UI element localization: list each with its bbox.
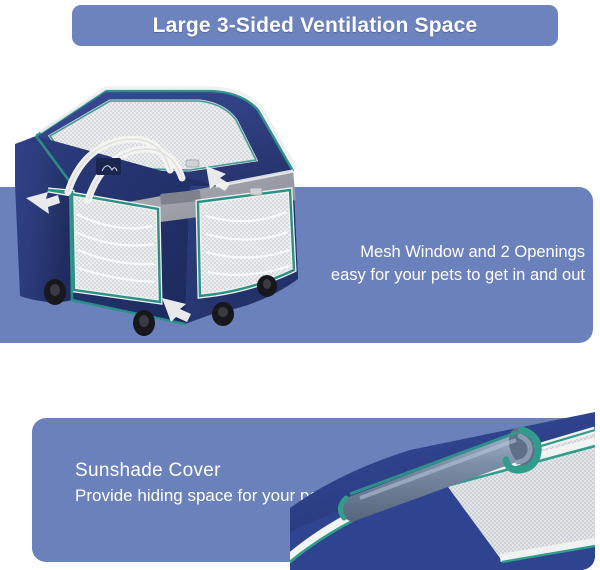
sunshade-cover-subline: Provide hiding space for your pet — [75, 485, 324, 506]
product-photo-wheeled-pet-carrier — [10, 74, 310, 336]
header-title: Large 3-Sided Ventilation Space — [153, 14, 478, 38]
product-photo-rolled-sunshade-cover — [290, 412, 595, 570]
product-feature-image: Large 3-Sided Ventilation Space Mesh Win… — [0, 0, 600, 570]
header-banner: Large 3-Sided Ventilation Space — [72, 5, 558, 46]
sunshade-cover-headline: Sunshade Cover — [75, 459, 324, 483]
feature-panel-sunshade-cover-text: Sunshade Cover Provide hiding space for … — [75, 459, 324, 506]
